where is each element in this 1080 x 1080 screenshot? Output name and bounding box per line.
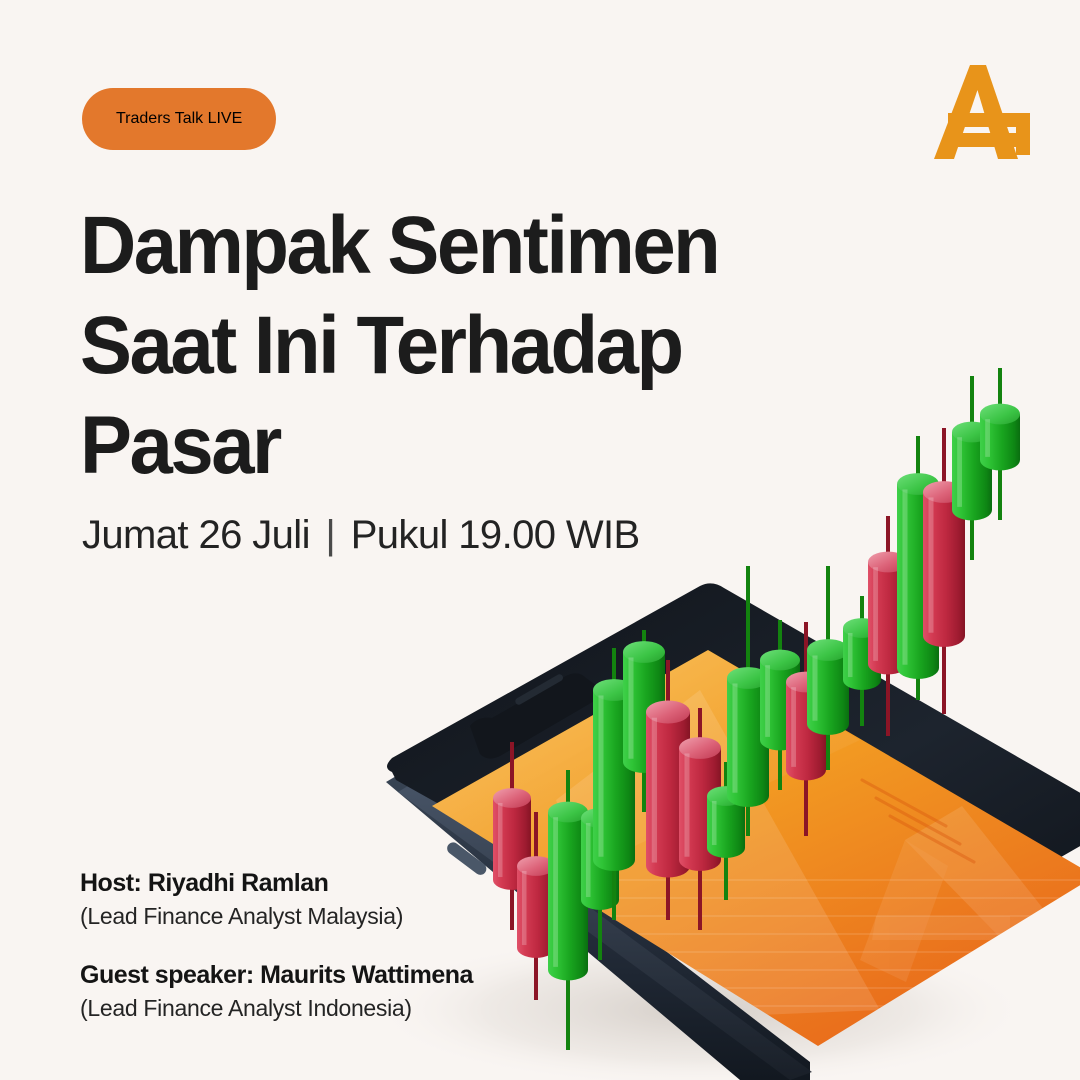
badge-label: Traders Talk LIVE xyxy=(116,110,242,128)
a-monogram-logo xyxy=(918,55,1038,170)
guest-role: (Lead Finance Analyst Indonesia) xyxy=(80,992,473,1024)
headline-line-1: Dampak Sentimen xyxy=(80,196,764,296)
candle-highlight xyxy=(812,655,817,720)
headline-line-3: Pasar xyxy=(80,396,764,496)
candle-highlight xyxy=(873,567,878,661)
schedule-date: Jumat 26 Juli xyxy=(82,513,310,557)
guest-credit: Guest speaker: Maurits Wattimena (Lead F… xyxy=(80,958,473,1024)
candle-highlight xyxy=(684,753,689,856)
candle-highlight xyxy=(553,817,558,967)
candle-highlight xyxy=(628,657,633,758)
credits-block: Host: Riyadhi Ramlan (Lead Finance Analy… xyxy=(80,866,473,1024)
candle-highlight xyxy=(652,718,657,863)
candle-highlight xyxy=(498,803,503,877)
candle-highlight xyxy=(928,497,933,632)
headline-line-2: Saat Ini Terhadap xyxy=(80,296,764,396)
traders-talk-live-badge[interactable]: Traders Talk LIVE xyxy=(82,88,276,150)
host-credit: Host: Riyadhi Ramlan (Lead Finance Analy… xyxy=(80,866,473,932)
candle-highlight xyxy=(765,665,770,737)
schedule-separator: | xyxy=(320,513,340,557)
schedule-time: Pukul 19.00 WIB xyxy=(351,513,640,557)
candle-highlight xyxy=(586,823,591,897)
candle-highlight xyxy=(522,871,527,945)
host-name: Host: Riyadhi Ramlan xyxy=(80,866,473,900)
candle-highlight xyxy=(957,437,962,507)
candle-highlight xyxy=(598,695,603,856)
guest-name: Guest speaker: Maurits Wattimena xyxy=(80,958,473,992)
poster-canvas: Traders Talk LIVE Dampak Sentimen Saat I… xyxy=(0,0,1080,1080)
candle-highlight xyxy=(848,633,853,677)
host-role: (Lead Finance Analyst Malaysia) xyxy=(80,900,473,932)
candle-highlight xyxy=(902,489,907,664)
candle-highlight xyxy=(791,687,796,767)
candle-highlight xyxy=(985,419,990,457)
candle-highlight xyxy=(712,801,717,845)
schedule-line: Jumat 26 Juli | Pukul 19.00 WIB xyxy=(82,513,640,558)
page-title: Dampak Sentimen Saat Ini Terhadap Pasar xyxy=(80,196,800,496)
candle-highlight xyxy=(732,683,737,792)
